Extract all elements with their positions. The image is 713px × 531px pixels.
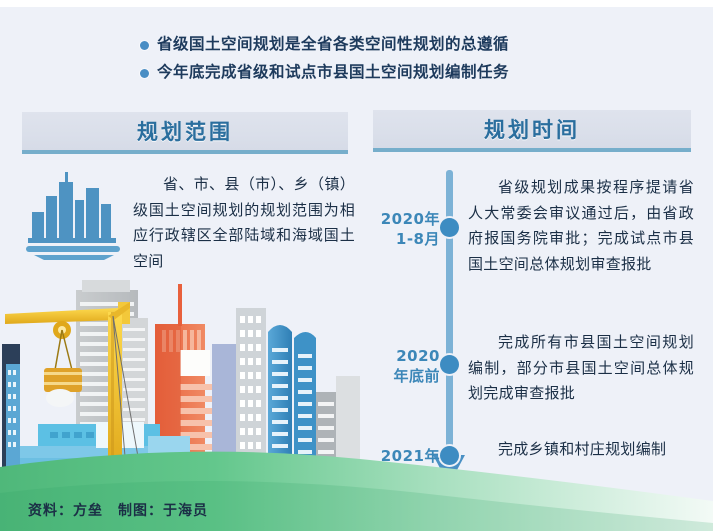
timeline-body-text: 完成所有市县国土空间规划编制，部分市县国土空间总体规划完成审查报批 [468, 330, 694, 407]
timeline-year-line1: 2020 [368, 346, 440, 366]
bullet-list: 省级国土空间规划是全省各类空间性规划的总遵循 今年底完成省级和试点市县国土空间规… [140, 34, 640, 90]
infographic-page: 省级国土空间规划是全省各类空间性规划的总遵循 今年底完成省级和试点市县国土空间规… [0, 0, 713, 531]
bullet-dot-icon [140, 41, 149, 50]
timeline-dot [440, 218, 459, 237]
timeline-dot [440, 355, 459, 374]
timeline-year-line2: 年底前 [368, 366, 440, 386]
section-title-time: 规划时间 [484, 114, 580, 144]
bullet-text: 今年底完成省级和试点市县国土空间规划编制任务 [157, 62, 509, 83]
section-title-scope: 规划范围 [137, 116, 233, 146]
bullet-dot-icon [140, 69, 149, 78]
left-panel-body-text: 省、市、县（市）、乡（镇）级国土空间规划的规划范围为相应行政辖区全部陆域和海域国… [133, 172, 355, 274]
source-credit: 资料：方垒 制图：于海员 [28, 500, 208, 520]
top-white-strip [0, 0, 713, 7]
timeline-body-text: 省级规划成果按程序提请省人大常委会审议通过后，由省政府报国务院审批；完成试点市县… [468, 175, 694, 277]
timeline-year-label: 2020 年底前 [368, 346, 440, 386]
bullet-item: 今年底完成省级和试点市县国土空间规划编制任务 [140, 62, 640, 83]
timeline-year-line2: 1-8月 [368, 229, 440, 249]
timeline-year-label: 2020年 1-8月 [368, 209, 440, 249]
section-header-left: 规划范围 [22, 112, 348, 154]
bullet-item: 省级国土空间规划是全省各类空间性规划的总遵循 [140, 34, 640, 55]
timeline-line [446, 170, 453, 470]
section-header-right: 规划时间 [373, 110, 691, 152]
bullet-text: 省级国土空间规划是全省各类空间性规划的总遵循 [157, 34, 509, 55]
city-skyline-icon [18, 170, 126, 262]
timeline-year-line1: 2020年 [368, 209, 440, 229]
